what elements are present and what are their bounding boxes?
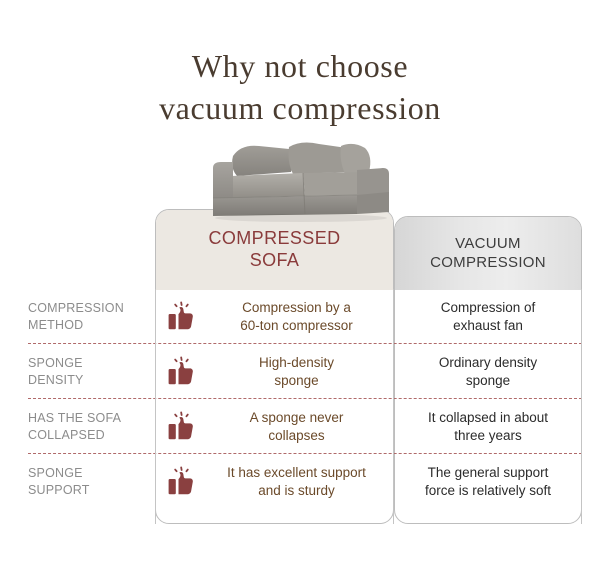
row-left-value: A sponge never collapses <box>201 409 392 444</box>
row-right-value: Compression of exhaust fan <box>441 299 536 334</box>
row-label: HAS THE SOFA COLLAPSED <box>28 410 148 443</box>
row-left-cell: It has excellent support and is sturdy <box>157 454 392 509</box>
table-row: SPONGE SUPPORT It has excellent support … <box>0 454 600 509</box>
page-title-line-2: vacuum compression <box>0 88 600 130</box>
row-right-value: Ordinary density sponge <box>439 354 537 389</box>
compressed-sofa-header-label: COMPRESSED SOFA <box>208 228 340 272</box>
row-left-value: It has excellent support and is sturdy <box>201 464 392 499</box>
sofa-illustration <box>207 132 393 224</box>
page-title-line-1: Why not choose <box>0 46 600 88</box>
row-right-cell: It collapsed in about three years <box>396 399 580 454</box>
row-label: SPONGE SUPPORT <box>28 465 148 498</box>
page-title: Why not choose vacuum compression <box>0 46 600 129</box>
hero-sofa-image <box>0 132 600 224</box>
row-left-cell: Compression by a 60-ton compressor <box>157 289 392 344</box>
row-right-cell: Ordinary density sponge <box>396 344 580 399</box>
thumbs-up-icon <box>167 356 197 388</box>
comparison-table: COMPRESSION METHOD Compression by a 60-t… <box>0 289 600 524</box>
thumbs-up-icon <box>167 466 197 498</box>
vacuum-compression-header-label: VACUUM COMPRESSION <box>430 235 546 272</box>
table-row: SPONGE DENSITY High-density sponge Ordin… <box>0 344 600 399</box>
row-right-cell: Compression of exhaust fan <box>396 289 580 344</box>
row-left-value: High-density sponge <box>201 354 392 389</box>
row-label: SPONGE DENSITY <box>28 355 148 388</box>
column-separator-left <box>155 289 156 524</box>
thumbs-up-icon <box>167 411 197 443</box>
row-left-value: Compression by a 60-ton compressor <box>201 299 392 334</box>
row-right-value: It collapsed in about three years <box>428 409 548 444</box>
row-right-cell: The general support force is relatively … <box>396 454 580 509</box>
column-separator-middle <box>393 289 394 524</box>
row-right-value: The general support force is relatively … <box>425 464 551 499</box>
row-label: COMPRESSION METHOD <box>28 300 148 333</box>
table-row: COMPRESSION METHOD Compression by a 60-t… <box>0 289 600 344</box>
row-left-cell: A sponge never collapses <box>157 399 392 454</box>
thumbs-up-icon <box>167 301 197 333</box>
row-left-cell: High-density sponge <box>157 344 392 399</box>
column-separator-right <box>581 289 582 524</box>
table-row: HAS THE SOFA COLLAPSED A sponge never co… <box>0 399 600 454</box>
vacuum-compression-header: VACUUM COMPRESSION <box>395 217 581 290</box>
